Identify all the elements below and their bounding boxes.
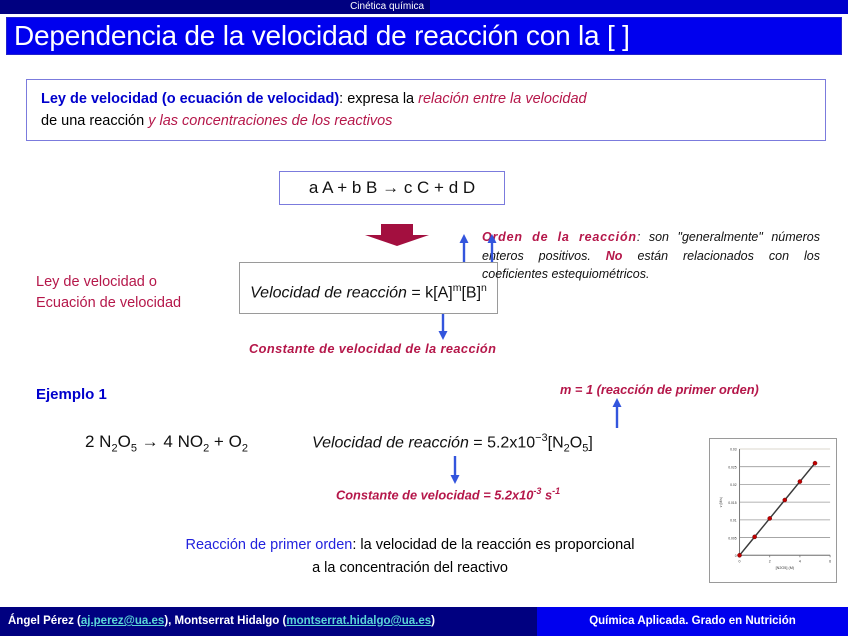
conclusion-text: Reacción de primer orden: la velocidad d… — [120, 534, 700, 580]
rate-law-side-label: Ley de velocidad o Ecuación de velocidad — [36, 272, 216, 314]
chart-data-point — [737, 553, 741, 557]
chem-mid1: O — [118, 432, 131, 451]
rate-law-mid: [B] — [461, 284, 481, 301]
rate-constant-label: Constante de velocidad de la reacción — [249, 341, 609, 356]
m-order-note: m = 1 (reacción de primer orden) — [560, 382, 759, 397]
rate-vs-concentration-chart: 00.0050.010.0150.020.0250.030246[N2O5] (… — [709, 438, 837, 583]
rate-constant-value-exp2: -1 — [552, 486, 560, 496]
example-rate-exponent: −3 — [535, 432, 548, 444]
chart-ytick-label: 0.02 — [730, 483, 737, 487]
chart-ytick-label: 0 — [735, 554, 737, 558]
page-title: Dependencia de la velocidad de reacción … — [14, 17, 834, 55]
example-rate-bracket-close: ] — [588, 434, 592, 451]
rate-law-exponent-n: n — [481, 282, 487, 294]
chart-xtick-label: 2 — [769, 560, 771, 564]
example-rate-bracket-open: [N — [548, 434, 564, 451]
chart-xtick-label: 4 — [799, 560, 801, 564]
arrow-to-exponent-m — [460, 234, 469, 262]
chart-xlabel: [N2O5] (M) — [776, 566, 795, 570]
chart-ytick-label: 0.015 — [728, 501, 736, 505]
footer-left-post: ) — [431, 615, 435, 627]
conclusion-line2: a la concentración del reactivo — [120, 557, 700, 580]
chart-data-point — [813, 461, 817, 465]
example-rate-equals: = 5.2x10 — [469, 434, 535, 451]
red-down-arrow-icon — [361, 224, 433, 246]
definition-italic-1: relación entre la velocidad — [418, 91, 586, 107]
arrow-to-rate-constant — [439, 314, 448, 340]
general-reaction-text: a A + b B → c C + d D — [279, 171, 505, 205]
rate-law-text: Velocidad de reacción = k[A]m[B]n — [239, 262, 498, 314]
arrow-to-m-note — [613, 398, 622, 428]
definition-after-lead: : expresa la — [339, 91, 418, 107]
conclusion-lead: Reacción de primer orden — [186, 537, 353, 553]
email-link-2[interactable]: montserrat.hidalgo@ua.es — [286, 615, 431, 627]
rate-law-side-label-line2: Ecuación de velocidad — [36, 293, 216, 314]
top-bar-title: Cinética química — [0, 0, 430, 14]
rate-constant-value-label: Constante de velocidad — [336, 487, 480, 502]
rate-constant-value-equals: = 5.2x10 — [480, 487, 534, 502]
example-rate-mid: O — [570, 434, 582, 451]
reaction-order-paragraph: Orden de la reacción: son "generalmente"… — [482, 228, 820, 284]
chart-ytick-label: 0.025 — [728, 465, 736, 469]
chart-ytick-label: 0.03 — [730, 448, 737, 452]
footer-left-mid: ), Montserrat Hidalgo ( — [164, 615, 286, 627]
chart-data-point — [753, 535, 757, 539]
chem-plus: + O — [209, 432, 242, 451]
chart-ytick-label: 0.01 — [730, 519, 737, 523]
definition-italic-2: y las concentraciones de los reactivos — [148, 113, 392, 129]
reaction-order-heading: Orden de la reacción — [482, 230, 637, 244]
definition-line2-plain: de una reacción — [41, 113, 148, 129]
example-rate-left-italic: Velocidad de reacción — [312, 434, 469, 451]
example-chemical-equation: 2 N2O5 → 4 NO2 + O2 — [85, 432, 248, 454]
example-heading: Ejemplo 1 — [36, 386, 107, 403]
chem-arrow: → 4 NO — [137, 432, 203, 451]
rate-law-equals: = k[A] — [407, 284, 453, 301]
definition-box: Ley de velocidad (o ecuación de velocida… — [26, 79, 826, 141]
rate-law-side-label-line1: Ley de velocidad o — [36, 272, 216, 293]
footer-left-pre: Ángel Pérez ( — [8, 615, 81, 627]
definition-line-1: Ley de velocidad (o ecuación de velocida… — [41, 88, 811, 110]
reaction-order-emphasis: No — [606, 249, 623, 263]
chart-ylabel: v (M/s) — [719, 497, 723, 507]
rate-constant-value: Constante de velocidad = 5.2x10-3 s-1 — [336, 486, 560, 502]
conclusion-rest: : la velocidad de la reacción es proporc… — [352, 537, 634, 553]
chem-sub4: 2 — [242, 442, 248, 454]
chart-data-point — [768, 516, 772, 520]
rate-constant-value-unit: s — [541, 487, 552, 502]
email-link-1[interactable]: aj.perez@ua.es — [81, 615, 164, 627]
arrow-to-k-value — [451, 456, 460, 484]
chart-ytick-label: 0.005 — [728, 536, 736, 540]
footer-course: Química Aplicada. Grado en Nutrición — [537, 607, 848, 636]
example-rate-equation: Velocidad de reacción = 5.2x10−3[N2O5] — [312, 432, 593, 455]
definition-line-2: de una reacción y las concentraciones de… — [41, 110, 811, 132]
chart-data-point — [783, 498, 787, 502]
chart-data-point — [798, 480, 802, 484]
footer-authors: Ángel Pérez (aj.perez@ua.es), Montserrat… — [8, 607, 435, 636]
chart-trend-line — [740, 463, 815, 555]
rate-law-left-italic: Velocidad de reacción — [250, 284, 407, 301]
chem-coef1: 2 N — [85, 432, 111, 451]
definition-bold-lead: Ley de velocidad (o ecuación de velocida… — [41, 91, 339, 107]
chart-xtick-label: 6 — [829, 560, 831, 564]
chart-canvas: 00.0050.010.0150.020.0250.030246[N2O5] (… — [710, 439, 836, 582]
chart-xtick-label: 0 — [739, 560, 741, 564]
